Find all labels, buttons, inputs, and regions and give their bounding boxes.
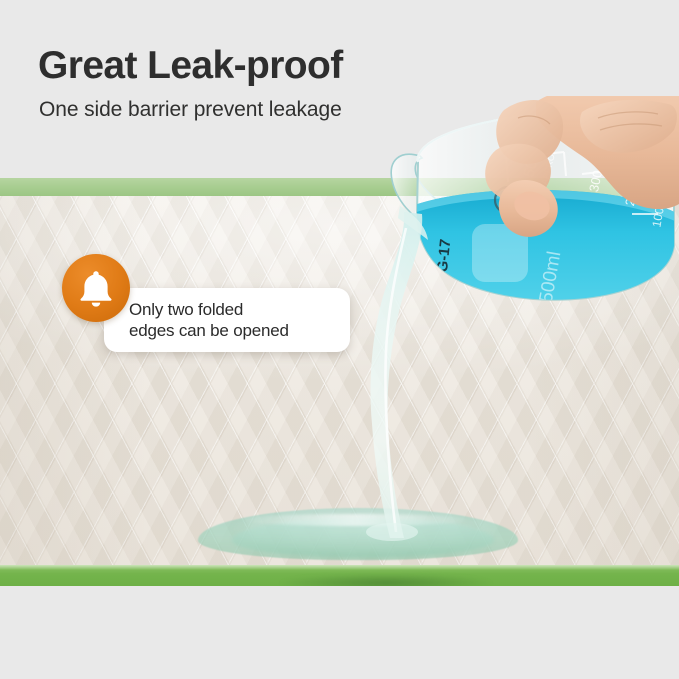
beaker-glass-code: GG-17 xyxy=(433,238,455,285)
page-subtitle: One side barrier prevent leakage xyxy=(39,98,342,122)
beaker-and-hand: H 500 APPROX. 300 200 100 GG-17 500ml xyxy=(386,96,679,336)
callout-text: Only two folded edges can be opened xyxy=(129,299,345,341)
bell-icon xyxy=(78,268,114,308)
beaker-svg: H 500 APPROX. 300 200 100 GG-17 500ml xyxy=(386,96,679,336)
callout-line-2: edges can be opened xyxy=(129,320,345,341)
product-feature-image: Great Leak-proof One side barrier preven… xyxy=(0,0,679,679)
callout-line-1: Only two folded xyxy=(129,299,345,320)
liquid-pool-sheen xyxy=(240,514,470,526)
callout-badge xyxy=(62,254,130,322)
barrier-highlight xyxy=(0,565,679,570)
page-title: Great Leak-proof xyxy=(38,44,343,88)
